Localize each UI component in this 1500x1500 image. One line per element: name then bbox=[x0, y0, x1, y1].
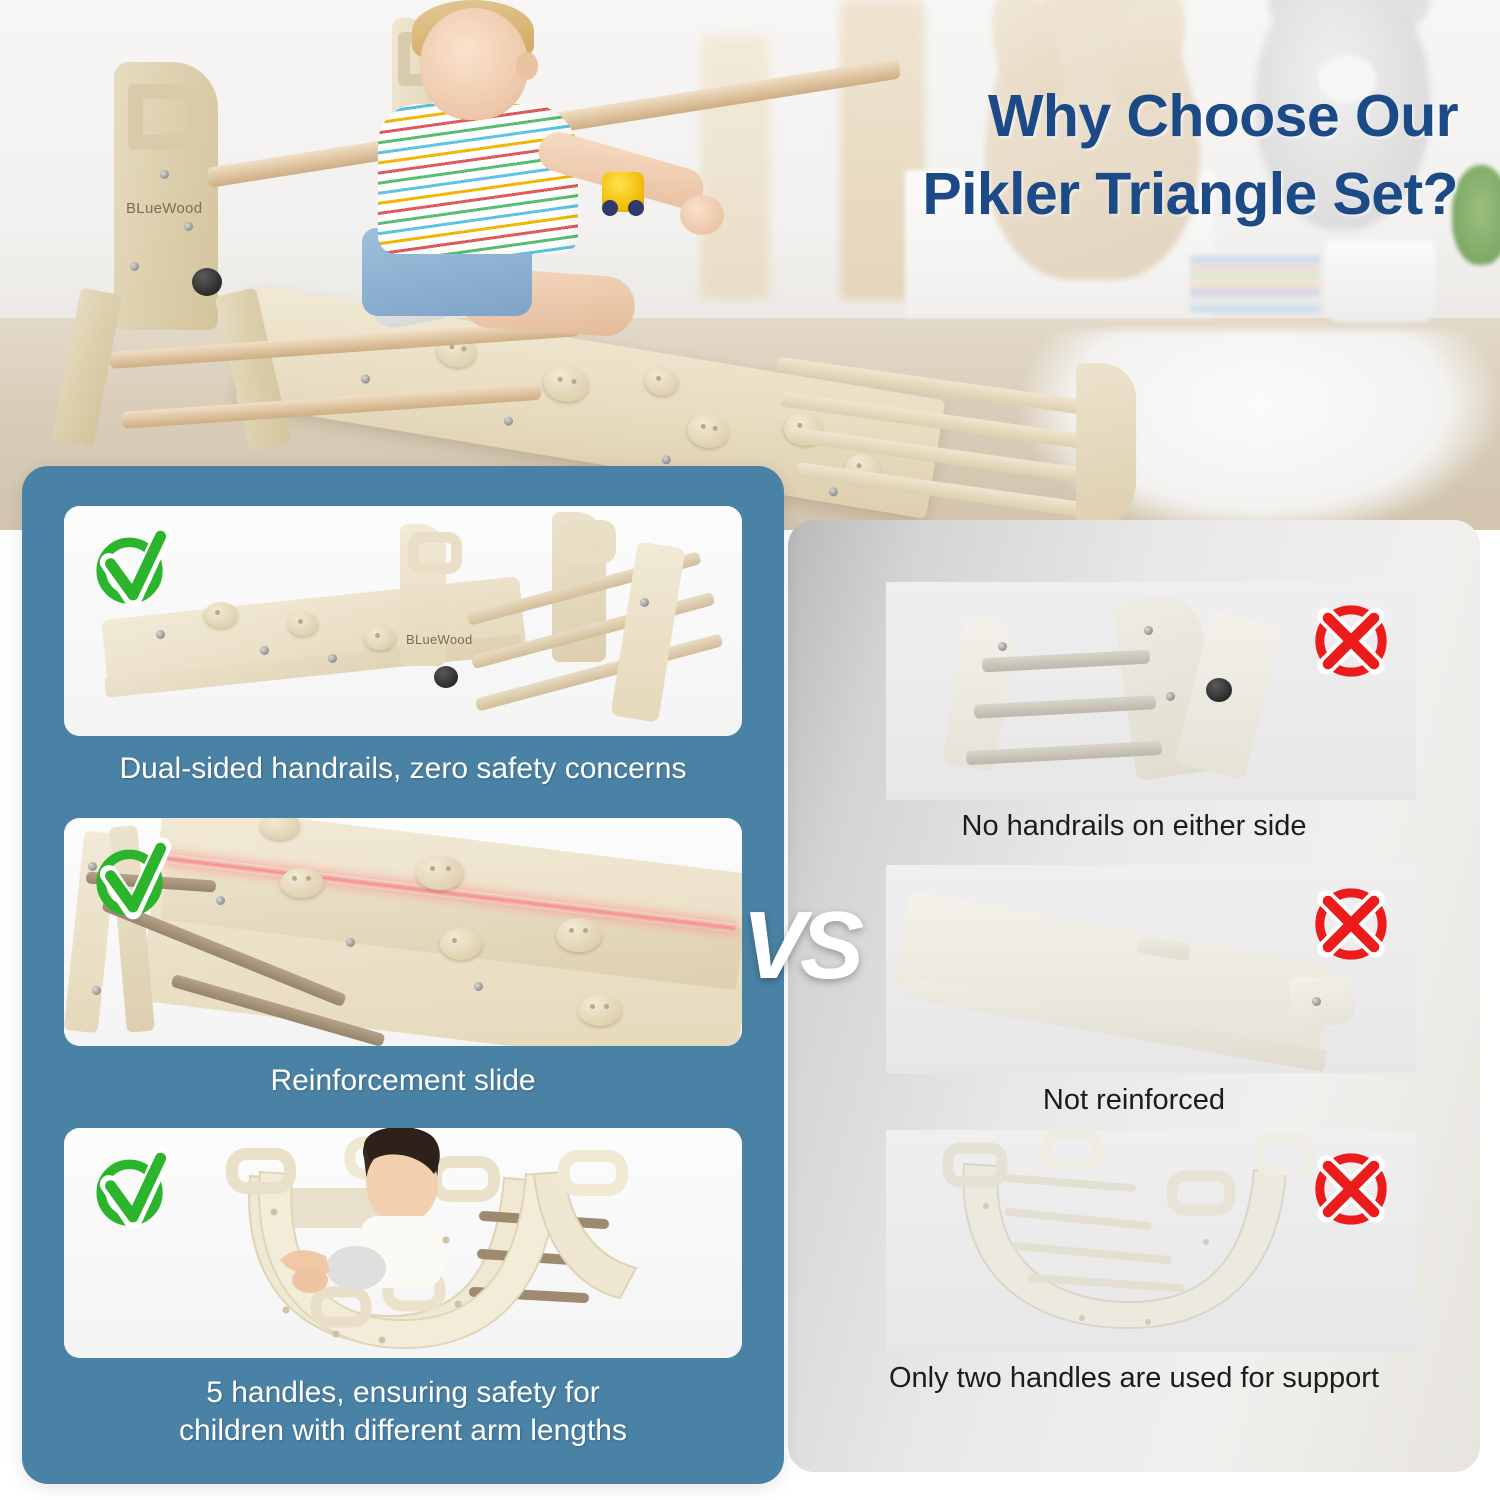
product-caption-3-line-1: 5 handles, ensuring safety for bbox=[22, 1374, 784, 1412]
toy-car-wheel bbox=[602, 200, 618, 216]
green-check-circle-icon bbox=[90, 1148, 176, 1234]
red-x-circle-icon bbox=[1310, 1148, 1392, 1230]
product-caption-1: Dual-sided handrails, zero safety concer… bbox=[22, 750, 784, 788]
screw bbox=[160, 170, 169, 179]
competitor-feature-card-1 bbox=[886, 582, 1416, 800]
page-title: Why Choose Our Pikler Triangle Set? bbox=[718, 78, 1458, 234]
screw bbox=[184, 222, 193, 231]
blurred-book-stack bbox=[1190, 255, 1320, 313]
screw bbox=[130, 262, 139, 271]
page-title-line-1: Why Choose Our bbox=[718, 78, 1458, 156]
red-x-circle-icon bbox=[1310, 600, 1392, 682]
vs-label: VS bbox=[742, 898, 858, 994]
product-feature-card-3 bbox=[64, 1128, 742, 1358]
green-check-circle-icon bbox=[90, 526, 176, 612]
competitor-caption-1: No handrails on either side bbox=[788, 808, 1480, 844]
product-feature-card-1: BLueWood bbox=[64, 506, 742, 736]
product-advantages-panel: BLueWood Dual-sided handrails, zero safe… bbox=[22, 466, 784, 1484]
adjustment-knob bbox=[192, 268, 222, 296]
competitor-feature-card-3 bbox=[886, 1130, 1416, 1352]
product-caption-3-line-2: children with different arm lengths bbox=[22, 1412, 784, 1450]
product-caption-2: Reinforcement slide bbox=[22, 1062, 784, 1100]
toy-car-wheel bbox=[628, 200, 644, 216]
page-title-line-2: Pikler Triangle Set? bbox=[718, 156, 1458, 234]
blurred-storage-basket bbox=[1325, 240, 1435, 322]
competitor-feature-card-2 bbox=[886, 865, 1416, 1073]
red-x-circle-icon bbox=[1310, 883, 1392, 965]
competitor-caption-3: Only two handles are used for support bbox=[788, 1360, 1480, 1396]
blurred-cactus-plant bbox=[1452, 165, 1500, 265]
child-on-slide bbox=[340, 0, 700, 330]
brand-logo: BLueWood bbox=[406, 632, 473, 647]
green-check-circle-icon bbox=[90, 838, 176, 924]
handle-cutout-left bbox=[128, 84, 202, 150]
brand-logo: BLueWood bbox=[126, 200, 202, 217]
product-caption-3: 5 handles, ensuring safety for children … bbox=[22, 1374, 784, 1450]
product-feature-card-2 bbox=[64, 818, 742, 1046]
competitor-caption-2: Not reinforced bbox=[788, 1082, 1480, 1118]
competitor-comparison-panel: No handrails on either side Not reinforc… bbox=[788, 520, 1480, 1472]
